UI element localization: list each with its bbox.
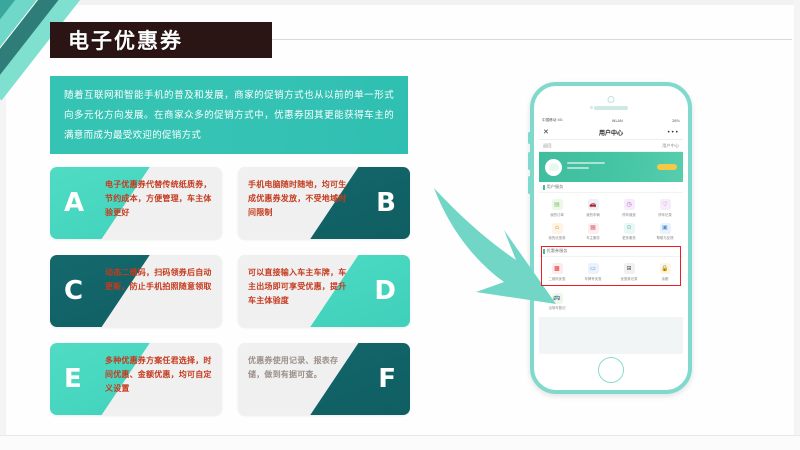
home-button[interactable] — [598, 357, 624, 383]
title-divider-rule — [272, 39, 792, 40]
slide-title-bar: 电子优惠券 — [50, 22, 272, 58]
card-text-wrap: 可以直接输入车主车牌，车主出场即可享受优惠，提升车主体验度 — [248, 266, 352, 308]
feature-card-c: C动态二维码，扫码领券后自动更新，防止手机拍照随意领取 — [50, 255, 222, 327]
slide-edge-bottom — [0, 435, 800, 450]
silent-switch[interactable] — [528, 132, 531, 144]
service-icon: 🔒 — [660, 263, 671, 274]
profile-sub-placeholder — [567, 167, 589, 169]
service-label: 余额 — [662, 276, 669, 281]
service-label: 停车记录 — [658, 212, 672, 217]
service-item[interactable]: ◷停车缴费 — [611, 196, 647, 220]
service-icon: ▣ — [660, 223, 671, 234]
slide-edge-right — [794, 0, 800, 450]
membership-badge[interactable] — [657, 164, 677, 170]
avatar — [545, 159, 562, 176]
profile-name-placeholder — [567, 162, 605, 164]
sensor-icon — [590, 106, 593, 109]
card-text: 可以直接输入车主车牌，车主出场即可享受优惠，提升车主体验度 — [248, 266, 352, 308]
feature-card-e: E多种优惠券方案任君选择，时间优惠、金额优惠，均可自定义设置 — [50, 343, 222, 415]
back-link[interactable]: 返回 — [543, 143, 551, 149]
service-item[interactable]: 🚗我的车辆 — [575, 196, 611, 220]
card-text: 电子优惠券代替传统纸质券，节约成本，方便管理，车主体验更好 — [105, 178, 214, 220]
service-item[interactable]: ▦车主服务 — [575, 220, 611, 244]
card-text: 多种优惠券方案任君选择，时间优惠、金额优惠，均可自定义设置 — [105, 354, 214, 396]
app-nav-bar: ✕ 用户中心 ••• — [539, 125, 683, 140]
card-text-wrap: 电子优惠券代替传统纸质券，节约成本，方便管理，车主体验更好 — [105, 178, 214, 220]
card-letter: D — [374, 276, 396, 306]
service-item[interactable]: 🔒余额 — [647, 260, 683, 284]
curved-arrow — [432, 178, 562, 318]
front-camera-icon — [608, 96, 615, 103]
card-text: 动态二维码，扫码领券后自动更新，防止手机拍照随意领取 — [105, 266, 214, 294]
service-icon: ◷ — [624, 199, 635, 210]
status-bar: 中国移动 4G WLAN 28% — [539, 116, 683, 125]
service-label: 停车缴费 — [622, 212, 636, 217]
card-text-wrap: 动态二维码，扫码领券后自动更新，防止手机拍照随意领取 — [105, 266, 214, 294]
card-text-wrap: 优惠券使用记录、报表存储，做到有据可查。 — [248, 354, 352, 382]
status-carrier: 中国移动 4G — [542, 118, 563, 123]
feature-card-b: B手机电脑随时随地，均可生成优惠券发放，不受地域时间限制 — [238, 167, 410, 239]
service-item[interactable]: ▭车牌号优惠 — [575, 260, 611, 284]
card-letter: B — [376, 188, 396, 218]
intro-text: 随着互联网和智能手机的普及和发展，商家的促销方式也从以前的单一形式向多元化方向发… — [64, 86, 394, 146]
sub-nav-bar: 返回 用户中心 — [539, 140, 683, 152]
card-letter: E — [64, 364, 82, 394]
status-wifi: WLAN — [612, 119, 623, 123]
service-label: 车牌号优惠 — [585, 276, 602, 281]
status-battery: 28% — [672, 119, 680, 123]
feature-card-grid: A电子优惠券代替传统纸质券，节约成本，方便管理，车主体验更好B手机电脑随时随地，… — [50, 167, 410, 415]
nav-title: 用户中心 — [539, 128, 683, 137]
card-text: 优惠券使用记录、报表存储，做到有据可查。 — [248, 354, 352, 382]
service-item[interactable]: ⊞优惠券记录 — [611, 260, 647, 284]
earpiece-speaker — [594, 106, 628, 110]
service-label: 我的车辆 — [586, 212, 600, 217]
service-item[interactable]: ⊙更多服务 — [611, 220, 647, 244]
card-letter: F — [378, 364, 396, 394]
service-label: 帮助与反馈 — [657, 235, 674, 240]
profile-info — [567, 162, 657, 172]
service-icon: ⊞ — [624, 263, 635, 274]
feature-card-f: F优惠券使用记录、报表存储，做到有据可查。 — [238, 343, 410, 415]
sub-page-label: 用户中心 — [662, 143, 679, 149]
service-icon: ▦ — [588, 223, 599, 234]
service-icon: ▭ — [588, 263, 599, 274]
feature-card-a: A电子优惠券代替传统纸质券，节约成本，方便管理，车主体验更好 — [50, 167, 222, 239]
card-letter: C — [64, 276, 83, 306]
card-text-wrap: 手机电脑随时随地，均可生成优惠券发放，不受地域时间限制 — [248, 178, 352, 220]
service-icon: ⊙ — [624, 223, 635, 234]
feature-card-d: D可以直接输入车主车牌，车主出场即可享受优惠，提升车主体验度 — [238, 255, 410, 327]
card-text: 手机电脑随时随地，均可生成优惠券发放，不受地域时间限制 — [248, 178, 352, 220]
service-label: 优惠券记录 — [621, 276, 638, 281]
service-label: 车主服务 — [586, 235, 600, 240]
slide-root: 电子优惠券 随着互联网和智能手机的普及和发展，商家的促销方式也从以前的单一形式向… — [0, 0, 800, 450]
service-icon: 🚗 — [588, 199, 599, 210]
service-item[interactable]: ♡停车记录 — [647, 196, 683, 220]
service-item[interactable]: ▣帮助与反馈 — [647, 220, 683, 244]
page-title: 电子优惠券 — [68, 25, 183, 55]
service-icon: ♡ — [660, 199, 671, 210]
volume-up-button[interactable] — [528, 152, 531, 170]
service-label: 更多服务 — [622, 235, 636, 240]
card-letter: A — [64, 188, 84, 218]
intro-callout: 随着互联网和智能手机的普及和发展，商家的促销方式也从以前的单一形式向多元化方向发… — [50, 76, 408, 154]
card-text-wrap: 多种优惠券方案任君选择，时间优惠、金额优惠，均可自定义设置 — [105, 354, 214, 396]
